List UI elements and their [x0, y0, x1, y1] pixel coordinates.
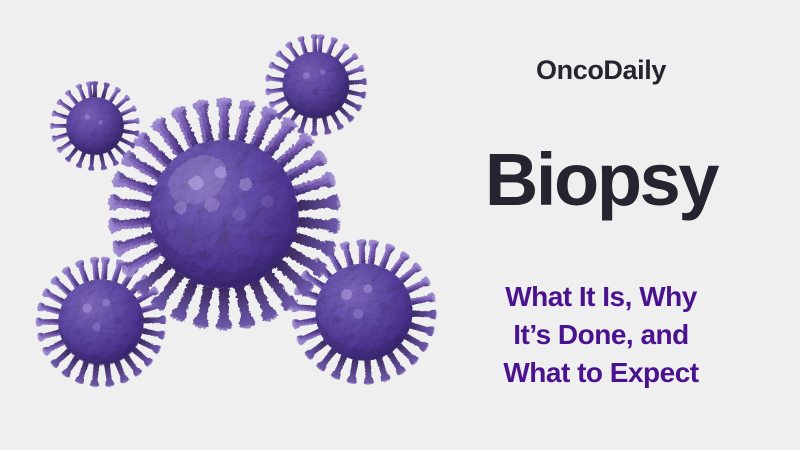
promo-card: OncoDaily Biopsy What It Is, Why It’s Do… — [0, 0, 800, 450]
text-column: OncoDaily Biopsy What It Is, Why It’s Do… — [455, 0, 800, 450]
virus-particle-center-large — [107, 98, 340, 331]
virus-illustration — [0, 0, 460, 450]
page-title: Biopsy — [455, 143, 747, 217]
subtitle-line-2: It’s Done, and — [455, 316, 747, 354]
brand-logo: OncoDaily — [455, 57, 747, 84]
virus-particle-top-middle — [265, 34, 367, 136]
virus-particle-bottom-left — [36, 257, 167, 388]
subtitle: What It Is, Why It’s Done, and What to E… — [455, 278, 747, 392]
subtitle-line-1: What It Is, Why — [455, 278, 747, 316]
subtitle-line-3: What to Expect — [455, 354, 747, 392]
